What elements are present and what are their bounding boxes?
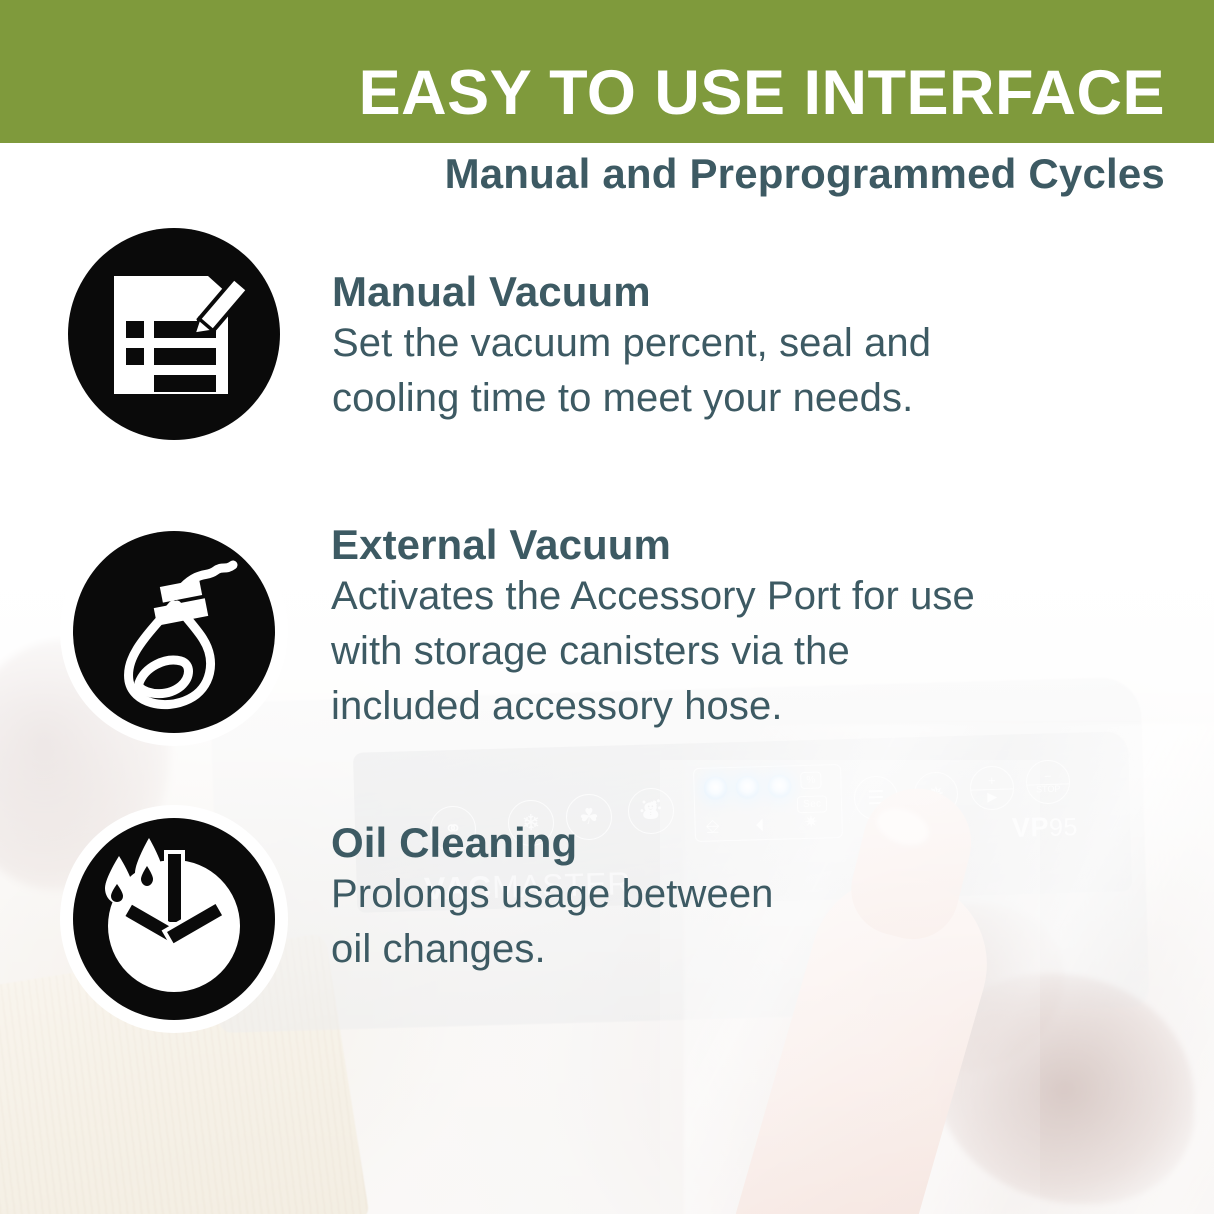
feature-heading: External Vacuum — [331, 523, 975, 568]
feature-row-external-vacuum: External Vacuum Activates the Accessory … — [60, 518, 975, 746]
feature-body-line: Prolongs usage between — [331, 868, 774, 921]
feature-icon-disc — [73, 531, 275, 733]
feature-text-block: Oil Cleaning Prolongs usage between oil … — [331, 805, 774, 976]
canister-hose-icon — [73, 531, 275, 733]
feature-text-block: External Vacuum Activates the Accessory … — [331, 518, 975, 733]
feature-heading: Manual Vacuum — [332, 270, 931, 315]
page-subtitle: Manual and Preprogrammed Cycles — [445, 153, 1165, 195]
feature-icon-disc — [73, 818, 275, 1020]
feature-body-line: included accessory hose. — [331, 680, 975, 733]
oil-pump-droplet-icon — [73, 818, 275, 1020]
feature-heading: Oil Cleaning — [331, 821, 774, 866]
document-pencil-icon — [68, 228, 280, 440]
feature-icon-badge — [60, 518, 288, 746]
feature-icon-badge — [68, 228, 280, 440]
feature-body-line: oil changes. — [331, 923, 774, 976]
feature-text-block: Manual Vacuum Set the vacuum percent, se… — [332, 228, 931, 425]
feature-body-line: with storage canisters via the — [331, 625, 975, 678]
page-title: EASY TO USE INTERFACE — [359, 62, 1165, 125]
feature-body-line: Activates the Accessory Port for use — [331, 570, 975, 623]
feature-row-oil-cleaning: Oil Cleaning Prolongs usage between oil … — [60, 805, 774, 1033]
feature-body-line: cooling time to meet your needs. — [332, 372, 931, 425]
infographic-page: ⚭ ❄ ☘ ⛇ % Sec ⎒ ⏴ ✷ ☰ ✵ + ▶ – STOP — [0, 0, 1214, 1214]
feature-icon-badge — [60, 805, 288, 1033]
feature-body-line: Set the vacuum percent, seal and — [332, 317, 931, 370]
feature-row-manual-vacuum: Manual Vacuum Set the vacuum percent, se… — [68, 228, 931, 440]
